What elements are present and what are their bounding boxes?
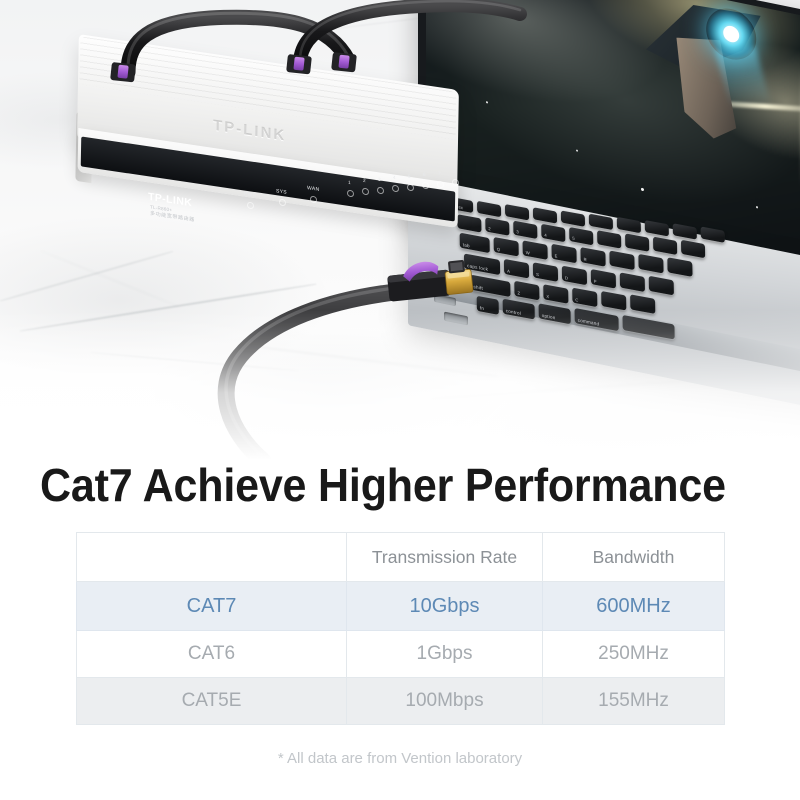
key-label: D (565, 275, 568, 281)
router-led (310, 195, 317, 203)
key-label: 4 (544, 232, 547, 237)
cell-cat7-name: CAT7 (77, 582, 347, 631)
key-label: S (536, 272, 539, 278)
key-label: Q (497, 246, 501, 252)
key-label: 3 (516, 229, 519, 234)
router-port-number: 1 (348, 180, 351, 185)
page-title: Cat7 Achieve Higher Performance (40, 462, 723, 508)
table-header-bandwidth: Bandwidth (543, 533, 725, 582)
router-led (452, 178, 459, 186)
key-label: 5 (572, 236, 575, 241)
cell-cat7-bandwidth: 600MHz (543, 582, 725, 631)
router-led (247, 201, 254, 209)
cell-cat5e-bandwidth: 155MHz (543, 678, 725, 725)
key-label: A (507, 268, 510, 274)
router-led (392, 184, 399, 192)
data-source-footnote: * All data are from Vention laboratory (0, 750, 800, 767)
router-led (347, 189, 354, 197)
router-led (377, 186, 384, 194)
key-label: W (526, 250, 530, 256)
table-header-row: Transmission Rate Bandwidth (77, 533, 725, 582)
router-port-number: 5 (408, 174, 411, 179)
cell-cat6-name: CAT6 (77, 631, 347, 678)
product-photo: esc 2 3 4 5 ta (0, 0, 800, 460)
cell-cat7-rate: 10Gbps (347, 582, 543, 631)
router-port-number: 6 (423, 172, 426, 177)
table-row-cat5e: CAT5E 100Mbps 155MHz (77, 678, 725, 725)
cell-cat5e-name: CAT5E (77, 678, 347, 725)
cell-cat6-rate: 1Gbps (347, 631, 543, 678)
key-label: caps lock (467, 263, 488, 272)
key-label: C (575, 297, 578, 303)
router-indicator-pwr: PWR (244, 191, 257, 199)
tp-link-router: TP-LINK TP-LINK TL-R860+ 多功能宽带路由器 PWR SY… (78, 52, 470, 252)
router-led (407, 183, 414, 191)
key-label: 2 (488, 226, 491, 231)
photo-white-fade (0, 310, 800, 460)
router-port-number: 7 (438, 171, 441, 176)
table-row-cat6: CAT6 1Gbps 250MHz (77, 631, 725, 678)
table-header-blank (77, 533, 347, 582)
spec-table-wrapper: Transmission Rate Bandwidth CAT7 10Gbps … (76, 532, 724, 725)
router-port-number: 3 (378, 177, 381, 182)
cell-cat5e-rate: 100Mbps (347, 678, 543, 725)
product-infographic-page: esc 2 3 4 5 ta (0, 0, 800, 800)
router-led (422, 181, 429, 189)
spec-table: Transmission Rate Bandwidth CAT7 10Gbps … (76, 532, 725, 725)
cell-cat6-bandwidth: 250MHz (543, 631, 725, 678)
table-row-cat7: CAT7 10Gbps 600MHz (77, 582, 725, 631)
key-label: F (594, 279, 597, 285)
router-led (279, 198, 286, 206)
key-label: E (555, 253, 558, 259)
key-label: shift (473, 284, 483, 291)
router-port-number: 4 (393, 175, 396, 180)
router-port-number: 2 (363, 178, 366, 183)
key-label: Z (517, 290, 520, 296)
router-led (437, 180, 444, 188)
key-label: R (584, 257, 587, 263)
table-header-transmission-rate: Transmission Rate (347, 533, 543, 582)
key-label: X (546, 294, 549, 300)
router-chinese-label: 多功能宽带路由器 (150, 210, 195, 224)
router-port-number: 8 (453, 169, 456, 174)
router-led (362, 187, 369, 195)
